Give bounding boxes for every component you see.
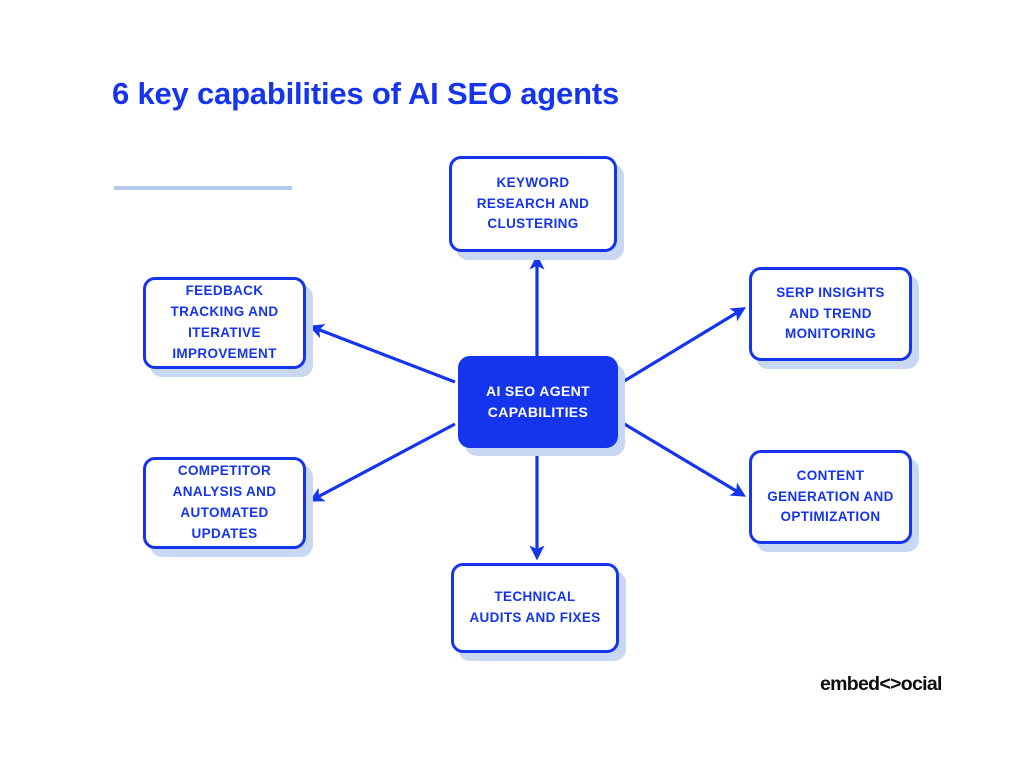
center-node-center[interactable]: AI SEO AGENT CAPABILITIES bbox=[458, 356, 618, 448]
node-label: TECHNICAL AUDITS AND FIXES bbox=[459, 587, 610, 629]
node-label: CONTENT GENERATION AND OPTIMIZATION bbox=[757, 466, 903, 529]
node-label: SERP INSIGHTS AND TREND MONITORING bbox=[766, 283, 895, 346]
logo-chevron-mark: <> bbox=[879, 673, 900, 696]
capability-node-competitor-analysis-and-automated-updates[interactable]: COMPETITOR ANALYSIS AND AUTOMATED UPDATE… bbox=[143, 457, 306, 549]
arrow-to-feedback-tracking-and-iterative-improvement bbox=[312, 327, 455, 382]
node-label: AI SEO AGENT CAPABILITIES bbox=[476, 381, 600, 423]
arrow-to-competitor-analysis-and-automated-updates bbox=[312, 424, 455, 500]
logo-text-suffix: ocial bbox=[901, 673, 942, 696]
embedsocial-logo: embed<>ocial bbox=[820, 673, 942, 696]
slide-canvas: { "slide": { "title": "6 key capabilitie… bbox=[0, 0, 1024, 768]
capability-node-feedback-tracking-and-iterative-improvement[interactable]: FEEDBACK TRACKING AND ITERATIVE IMPROVEM… bbox=[143, 277, 306, 369]
arrow-to-serp-insights-and-trend-monitoring bbox=[621, 309, 743, 383]
capability-node-technical-audits-and-fixes[interactable]: TECHNICAL AUDITS AND FIXES bbox=[451, 563, 619, 653]
node-label: FEEDBACK TRACKING AND ITERATIVE IMPROVEM… bbox=[161, 281, 289, 365]
node-label: COMPETITOR ANALYSIS AND AUTOMATED UPDATE… bbox=[163, 461, 287, 545]
logo-text-prefix: embed bbox=[820, 673, 879, 696]
node-label: KEYWORD RESEARCH AND CLUSTERING bbox=[467, 173, 599, 236]
arrow-to-content-generation-and-optimization bbox=[621, 422, 743, 495]
capability-node-content-generation-and-optimization[interactable]: CONTENT GENERATION AND OPTIMIZATION bbox=[749, 450, 912, 544]
capability-node-keyword-research-and-clustering[interactable]: KEYWORD RESEARCH AND CLUSTERING bbox=[449, 156, 617, 252]
capability-node-serp-insights-and-trend-monitoring[interactable]: SERP INSIGHTS AND TREND MONITORING bbox=[749, 267, 912, 361]
